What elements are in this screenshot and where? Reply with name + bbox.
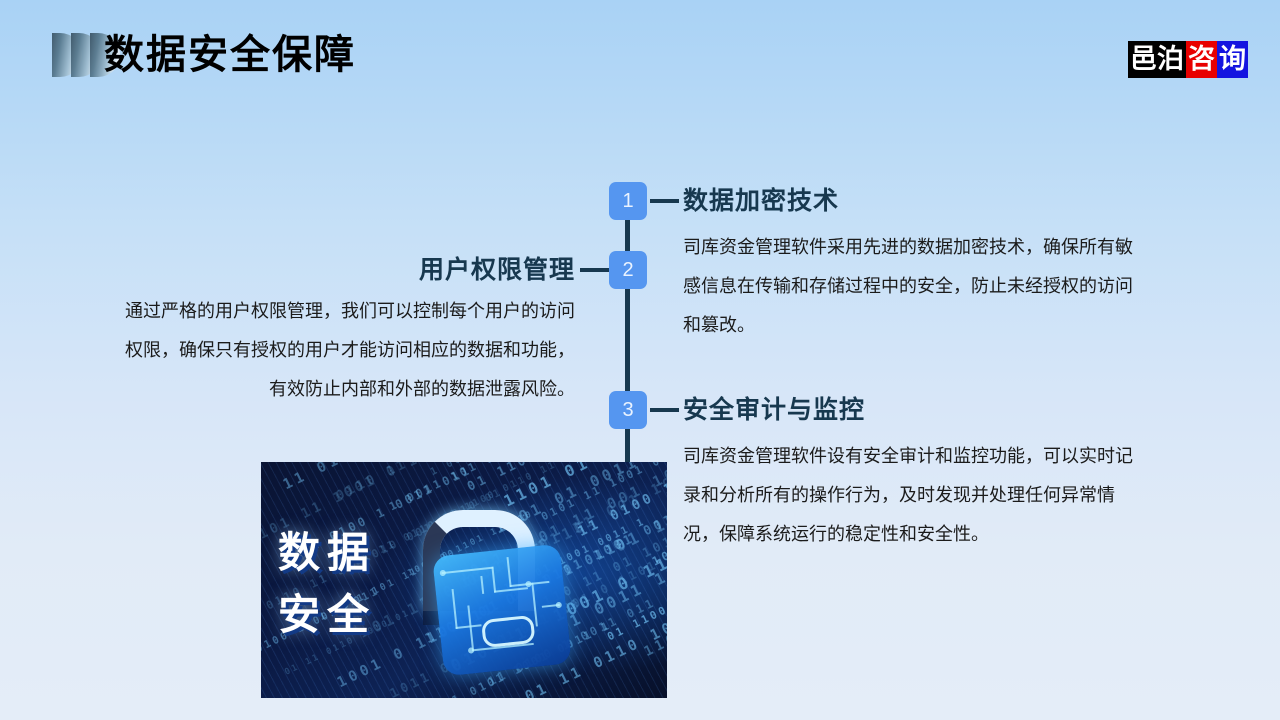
image-caption: 数据 安全 [278, 522, 376, 646]
brand-logo-segment-1: 邑泊 [1128, 41, 1186, 78]
image-caption-line-2: 安全 [278, 584, 376, 646]
slide-canvas: 数据安全保障 邑泊 咨 询 1 2 3 数据加密技术 司库资金管理软件采用先进的… [0, 0, 1280, 720]
padlock-body-icon [432, 544, 572, 677]
timeline-connector-3 [650, 408, 679, 412]
timeline-heading-3: 安全审计与监控 [683, 395, 865, 425]
timeline-badge-3[interactable]: 3 [609, 391, 647, 429]
timeline-connector-2 [580, 268, 609, 272]
timeline-axis [625, 200, 630, 490]
page-title: 数据安全保障 [104, 29, 356, 81]
timeline-body-2: 通过严格的用户权限管理，我们可以控制每个用户的访问权限，确保只有授权的用户才能访… [115, 292, 575, 409]
image-caption-line-1: 数据 [278, 522, 376, 584]
timeline-connector-1 [650, 199, 679, 203]
brand-logo-segment-3: 询 [1217, 41, 1248, 78]
timeline-body-1: 司库资金管理软件采用先进的数据加密技术，确保所有敏感信息在传输和存储过程中的安全… [683, 228, 1143, 345]
brand-logo-segment-2: 咨 [1186, 41, 1217, 78]
data-security-image: 1011 0101 11 001 1011 0101 1001 0011 101… [261, 462, 667, 698]
timeline-heading-1: 数据加密技术 [683, 186, 839, 216]
timeline-body-3: 司库资金管理软件设有安全审计和监控功能，可以实时记录和分析所有的操作行为，及时发… [683, 437, 1143, 554]
timeline-heading-2: 用户权限管理 [270, 255, 575, 285]
brand-logo: 邑泊 咨 询 [1128, 41, 1248, 78]
timeline-badge-2[interactable]: 2 [609, 251, 647, 289]
timeline-badge-1[interactable]: 1 [609, 182, 647, 220]
slide-header: 数据安全保障 邑泊 咨 询 [0, 0, 1280, 110]
